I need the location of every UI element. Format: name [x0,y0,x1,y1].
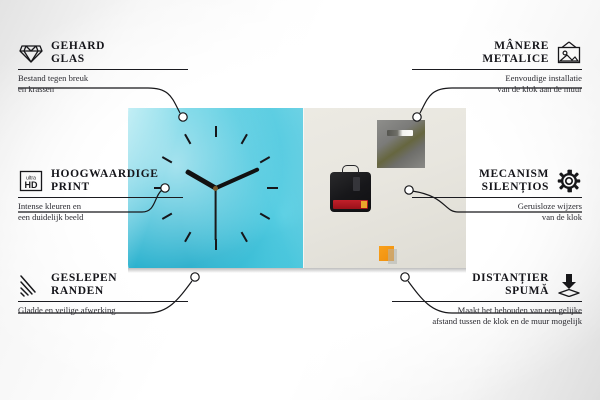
feature-title-line1: GESLEPEN [51,272,117,285]
feature-title-line2: METALICE [412,53,549,66]
feature-rule [412,197,582,198]
feature-desc-line2: een duidelijk beeld [18,212,183,223]
feature-mecanism-silentios: MECANISM SILENȚIOS [412,168,582,223]
feature-title-line1: MECANISM [412,168,549,181]
feature-rule [412,69,582,70]
feature-title-line1: DISTANȚIER [392,272,549,285]
feature-desc-line1: Eenvoudige installatie [412,73,582,84]
feature-desc-line2: en krassen [18,84,188,95]
feature-title-line1: MÂNERE [412,40,549,53]
diamond-icon [18,41,44,65]
feature-title-line2: SILENȚIOS [412,181,549,194]
feature-rule [18,197,183,198]
feature-desc-line1: Bestand tegen breuk [18,73,188,84]
feature-distantier-spuma: DISTANȚIER SPUMĂ Maakt het behouden van … [392,272,582,327]
feature-title-line1: GEHARD [51,40,105,53]
feature-title-line2: GLAS [51,53,105,66]
feature-desc-line2: van de klok aan de muur [412,84,582,95]
connector-dot-geslepen-randen [191,273,199,281]
feature-title-line2: RANDEN [51,285,117,298]
feature-title-line2: PRINT [51,181,159,194]
feature-desc-line1: Maakt het behouden van een gelijke [392,305,582,316]
connector-dot-manere-metalice [413,113,421,121]
feature-title-line1: HOOGWAARDIGE [51,168,159,181]
feature-geslepen-randen: GESLEPEN RANDEN Gladde en veilige afwerk… [18,272,188,316]
feature-rule [392,301,582,302]
beveled-edges-icon [18,273,44,297]
connector-dot-gehard-glas [179,113,187,121]
feature-desc-line1: Intense kleuren en [18,201,183,212]
feature-hoogwaardige-print: ultra HD HOOGWAARDIGE PRINT Intense kleu… [18,168,183,223]
feature-desc-line1: Geruisloze wijzers [412,201,582,212]
feature-gehard-glas: GEHARD GLAS Bestand tegen breuk en krass… [18,40,188,95]
infographic-stage: GEHARD GLAS Bestand tegen breuk en krass… [0,0,600,400]
feature-desc-line2: van de klok [412,212,582,223]
gear-icon [556,169,582,193]
spacer-arrow-icon [556,273,582,297]
ultra-hd-icon-label-main: HD [25,180,38,190]
picture-frame-icon [556,41,582,65]
feature-rule [18,69,188,70]
feature-manere-metalice: MÂNERE METALICE Eenvoudige installatie v… [412,40,582,95]
feature-title-line2: SPUMĂ [392,285,549,298]
feature-desc-line2: afstand tussen de klok en de muur mogeli… [392,316,582,327]
feature-rule [18,301,188,302]
ultra-hd-icon: ultra HD [18,169,44,193]
feature-desc-line1: Gladde en veilige afwerking [18,305,188,316]
